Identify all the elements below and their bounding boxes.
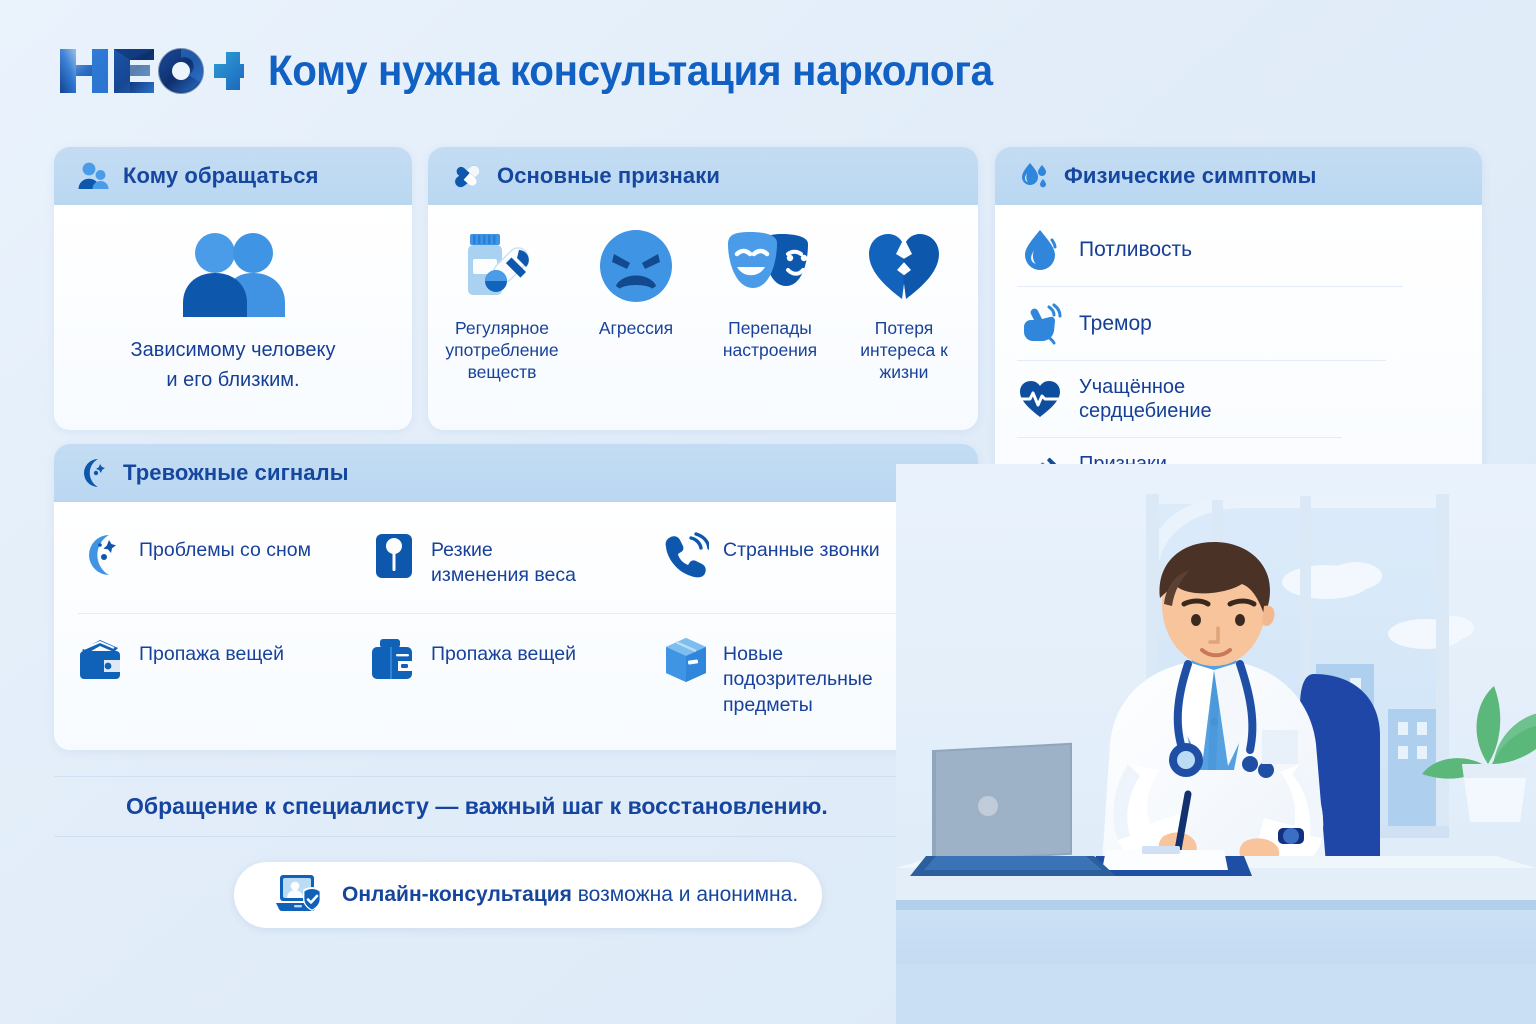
users-icon — [76, 159, 110, 193]
brand-logo — [56, 43, 244, 99]
card-header-physical-symptoms: Физические симптомы — [995, 147, 1482, 205]
card-title-main-signs: Основные признаки — [497, 163, 720, 189]
capsules-icon — [450, 159, 484, 193]
sign-item: Агрессия — [572, 223, 700, 339]
physical-symptom-row: Потливость — [1017, 213, 1403, 287]
phone-ringing-icon — [662, 532, 710, 580]
wallet-closed-icon — [370, 636, 418, 684]
two-people-icon — [169, 227, 297, 319]
heartbeat-icon — [1017, 376, 1063, 422]
pill-bottle-icon — [438, 223, 566, 309]
water-drop-icon — [1017, 227, 1063, 273]
card-title-physical-symptoms: Физические симптомы — [1064, 163, 1317, 189]
page-title: Кому нужна консультация нарколога — [268, 47, 993, 96]
physical-symptom-row: Тремор — [1017, 287, 1386, 361]
whom-to-contact-text: Зависимому человеку и его близким. — [54, 335, 412, 395]
card-header-whom-to-contact: Кому обращаться — [54, 147, 412, 205]
trembling-hand-icon — [1017, 301, 1063, 347]
sign-label: Перепады настроения — [706, 317, 834, 361]
online-consultation-text: Онлайн-консультация возможна и анонимна. — [342, 883, 798, 907]
card-header-warning-signals: Тревожные сигналы — [54, 444, 978, 502]
page-header: Кому нужна консультация нарколога — [56, 34, 1039, 108]
sign-label: Агрессия — [572, 317, 700, 339]
card-body-whom-to-contact: Зависимому человеку и его близким. — [54, 205, 412, 430]
laptop-verified-icon — [274, 873, 326, 917]
water-drops-icon — [1017, 159, 1051, 193]
card-body-warning-signals: Проблемы со сном Резкие изменения веса — [54, 502, 978, 750]
sign-item: Перепады настроения — [706, 223, 834, 361]
warning-label: Новые подозрительные предметы — [723, 634, 873, 718]
warning-item: Резкие изменения веса — [370, 510, 662, 614]
theater-masks-icon — [706, 223, 834, 309]
suspicious-box-icon — [662, 636, 710, 684]
sign-item: Потеря интереса к жизни — [840, 223, 968, 383]
footer-note-text: Обращение к специалисту — важный шаг к в… — [126, 793, 924, 820]
moon-stars-icon — [78, 532, 126, 580]
warning-label: Пропажа вещей — [431, 634, 576, 667]
sign-label: Потеря интереса к жизни — [840, 317, 968, 383]
crescent-moon-icon — [76, 456, 110, 490]
neo-plus-logo-icon — [56, 43, 244, 99]
online-consultation-badge: Онлайн-консультация возможна и анонимна. — [234, 862, 822, 928]
warning-label: Странные звонки — [723, 530, 880, 563]
badge-bold-text: Онлайн-консультация — [342, 883, 572, 906]
warning-item: Пропажа вещей — [370, 614, 662, 736]
footer-note: Обращение к специалисту — важный шаг к в… — [54, 776, 924, 837]
physical-symptom-label: Учащённое сердцебиение — [1079, 375, 1212, 424]
desk — [896, 856, 1536, 1024]
weight-scale-icon — [370, 532, 418, 580]
card-warning-signals: Тревожные сигналы Проблемы со сном — [54, 444, 978, 750]
card-header-main-signs: Основные признаки — [428, 147, 978, 205]
card-main-signs: Основные признаки — [428, 147, 978, 430]
warning-label: Проблемы со сном — [139, 530, 311, 563]
sign-label: Регулярное употребление веществ — [438, 317, 566, 383]
broken-heart-icon — [840, 223, 968, 309]
wallet-open-icon — [78, 636, 126, 684]
warning-item: Проблемы со сном — [78, 510, 370, 614]
physical-symptom-row: Учащённое сердцебиение — [1017, 361, 1342, 438]
warning-label: Резкие изменения веса — [431, 530, 576, 589]
warning-item: Пропажа вещей — [78, 614, 370, 736]
card-body-main-signs: Регулярное употребление веществ Агрессия — [428, 205, 978, 430]
card-whom-to-contact: Кому обращаться Зависимому человеку и ег… — [54, 147, 412, 430]
badge-rest-text: возможна и анонимна. — [572, 883, 798, 906]
physical-symptom-label: Тремор — [1079, 311, 1152, 337]
angry-face-icon — [572, 223, 700, 309]
warning-label: Пропажа вещей — [139, 634, 284, 667]
card-title-whom-to-contact: Кому обращаться — [123, 163, 319, 189]
doctor-illustration-svg — [896, 464, 1536, 1024]
sign-item: Регулярное употребление веществ — [438, 223, 566, 383]
card-title-warning-signals: Тревожные сигналы — [123, 460, 349, 486]
doctor-at-desk-illustration — [896, 464, 1536, 1024]
physical-symptom-label: Потливость — [1079, 237, 1192, 263]
